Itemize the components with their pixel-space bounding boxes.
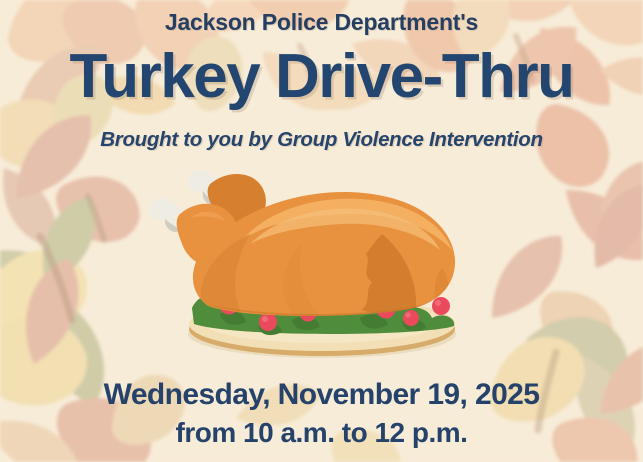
organization-line: Jackson Police Department's bbox=[0, 9, 643, 36]
turkey-drive-thru-flyer: Jackson Police Department's Turkey Drive… bbox=[0, 0, 643, 462]
flyer-text-layer: Jackson Police Department's Turkey Drive… bbox=[0, 0, 643, 462]
event-date: Wednesday, November 19, 2025 bbox=[0, 378, 643, 412]
event-title: Turkey Drive-Thru bbox=[0, 46, 643, 108]
event-time: from 10 a.m. to 12 p.m. bbox=[0, 417, 643, 449]
event-subtitle: Brought to you by Group Violence Interve… bbox=[0, 128, 643, 152]
